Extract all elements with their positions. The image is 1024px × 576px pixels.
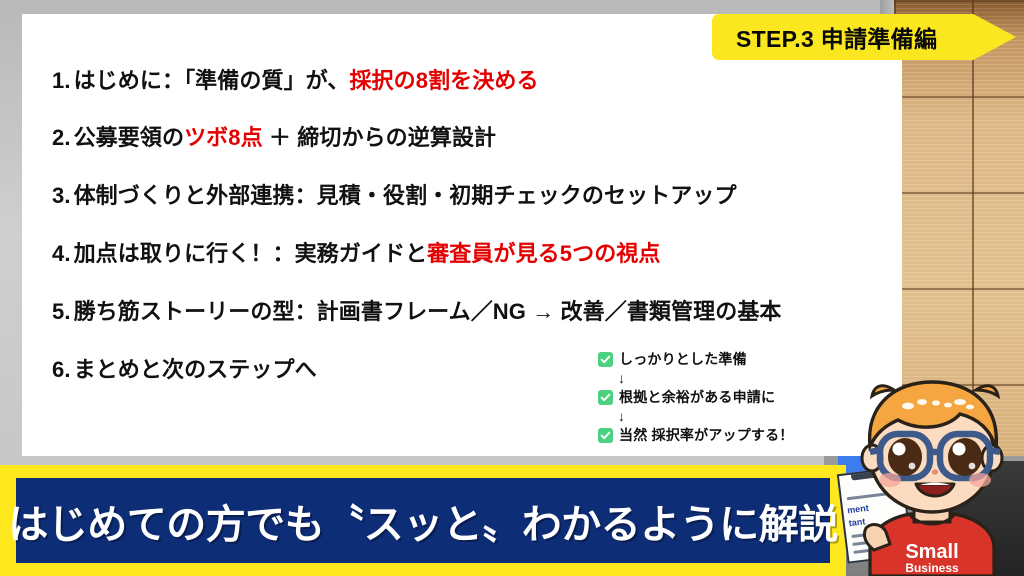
agenda-item-text: 加点は取りに行く！：実務ガイドと	[74, 241, 428, 266]
agenda-item-text: はじめに：「準備の質」が、	[74, 68, 350, 93]
mascot-character: Small Business	[836, 372, 1024, 576]
slide-canvas: STEP.3 申請準備編 1.はじめに：「準備の質」が、採択の8割を決める 2.…	[0, 0, 1024, 576]
check-icon	[598, 390, 613, 405]
agenda-item: 4.加点は取りに行く！：実務ガイドと審査員が見る5つの視点	[52, 241, 661, 267]
agenda-item-number: 3.	[52, 183, 71, 208]
check-icon	[598, 352, 613, 367]
check-flow-label: 当然 採択率がアップする！	[619, 425, 794, 445]
bottom-banner: はじめての方でも〝スッと〟わかるように解説	[16, 478, 830, 563]
agenda-item-highlight: 採択の8割を決める	[349, 68, 538, 93]
agenda-item-number: 4.	[52, 241, 71, 266]
bottom-banner-text: はじめての方でも〝スッと〟わかるように解説	[8, 492, 838, 550]
agenda-item-number: 2.	[52, 125, 71, 150]
check-flow-step: しっかりとした準備	[598, 348, 828, 370]
agenda-item-text: まとめと次のステップへ	[74, 357, 317, 382]
mascot-eye-left	[888, 438, 922, 476]
arrow-down-icon: ↓	[598, 408, 828, 424]
mascot-shirt-text-line1: Small	[905, 541, 958, 563]
agenda-item-text: ＋ 締切からの逆算設計	[263, 125, 496, 150]
agenda-item-highlight: 審査員が見る5つの視点	[427, 241, 660, 266]
agenda-item: 6.まとめと次のステップへ	[52, 357, 317, 383]
agenda-item-number: 5.	[52, 299, 71, 324]
agenda-item-text: 公募要領の	[74, 125, 185, 150]
check-flow-label: しっかりとした準備	[619, 349, 747, 369]
arrow-down-icon: ↓	[598, 370, 828, 386]
agenda-item: 1.はじめに：「準備の質」が、採択の8割を決める	[52, 68, 539, 94]
step-ribbon-label: STEP.3 申請準備編	[712, 20, 937, 54]
mascot-shirt-text-line2: Business	[905, 561, 959, 575]
check-flow-step: 当然 採択率がアップする！	[598, 424, 828, 446]
agenda-item: 3.体制づくりと外部連携：見積・役割・初期チェックのセットアップ	[52, 183, 737, 209]
agenda-item-number: 1.	[52, 68, 71, 93]
check-flow-step: 根拠と余裕がある申請に	[598, 386, 828, 408]
step-ribbon: STEP.3 申請準備編	[712, 14, 1016, 60]
agenda-item-number: 6.	[52, 357, 71, 382]
agenda-item: 2.公募要領のツボ8点 ＋ 締切からの逆算設計	[52, 125, 496, 151]
check-flow: しっかりとした準備 ↓ 根拠と余裕がある申請に ↓ 当然 採択率がアップする！	[598, 348, 828, 446]
agenda-item-highlight: ツボ8点	[184, 125, 263, 150]
agenda-item-text: 勝ち筋ストーリーの型：計画書フレーム／NG → 改善／書類管理の基本	[74, 299, 782, 324]
mascot-eye-right	[948, 438, 982, 476]
check-icon	[598, 428, 613, 443]
agenda-item-text: 体制づくりと外部連携：見積・役割・初期チェックのセットアップ	[74, 183, 737, 208]
check-flow-label: 根拠と余裕がある申請に	[619, 387, 775, 407]
agenda-item: 5.勝ち筋ストーリーの型：計画書フレーム／NG → 改善／書類管理の基本	[52, 299, 782, 325]
